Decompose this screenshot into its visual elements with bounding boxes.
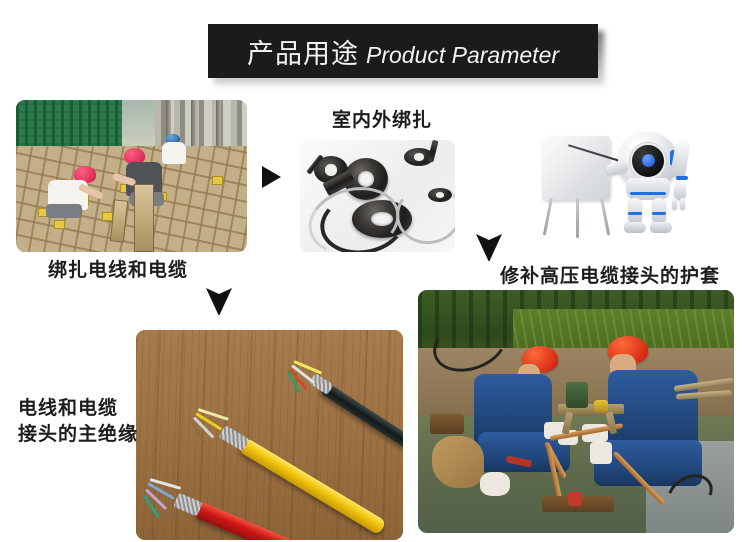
green-tank <box>566 382 588 408</box>
robot-blue-accent <box>630 192 666 195</box>
yellow-marker <box>212 176 223 185</box>
photo-workers-repairing-cable <box>418 290 734 533</box>
robot-left-leg <box>628 198 642 224</box>
caption-main-insulation: 电线和电缆接头的主绝缘 <box>18 396 148 447</box>
wooden-tool-box <box>430 414 464 434</box>
product-usage-infographic: 产品用途Product Parameter <box>0 0 750 542</box>
robot-right-leg <box>652 198 666 224</box>
caption-line-2: 接头的主绝缘 <box>18 424 138 445</box>
robot-left-foot <box>624 222 646 233</box>
banner-title-cn: 产品用途 <box>247 39 359 69</box>
robot-eye-pupil <box>642 154 655 167</box>
board-leg <box>543 198 553 236</box>
photo-tape-content <box>300 140 455 252</box>
board-leg <box>576 198 579 238</box>
arrow-right-icon <box>262 166 281 188</box>
red-tool <box>568 492 582 506</box>
banner-plate: 产品用途Product Parameter <box>208 24 598 78</box>
photo-robot-content <box>540 128 715 244</box>
robot-forearm <box>674 182 686 200</box>
caption-repair-hv-cable-sheath: 修补高压电缆接头的护套 <box>500 264 720 290</box>
arrow-down-icon <box>476 234 502 261</box>
photo-field-content <box>418 290 734 533</box>
photo-robot-presenter <box>540 128 715 244</box>
robot-blue-accent <box>652 212 666 215</box>
board-leg <box>600 198 610 236</box>
photo-tying-rebar <box>16 100 247 252</box>
worker-leg <box>46 204 82 218</box>
photo-cables-content <box>136 330 403 540</box>
header-banner: 产品用途Product Parameter <box>208 24 598 78</box>
canvas-sack <box>432 436 484 488</box>
yellow-tool <box>594 400 608 412</box>
robot-right-foot <box>650 222 672 233</box>
photo-cables-on-wood <box>136 330 403 540</box>
arrow-down-icon <box>206 288 232 315</box>
caption-line-1: 电线和电缆 <box>18 398 118 419</box>
banner-title-en: Product Parameter <box>366 42 559 68</box>
robot-blue-accent <box>628 212 642 215</box>
worker-torso <box>162 142 186 164</box>
white-bag <box>480 472 510 496</box>
caption-tying-rebar: 绑扎电线和电缆 <box>48 258 188 284</box>
robot-finger <box>680 198 685 210</box>
caption-indoor-outdoor-binding: 室内外绑扎 <box>332 108 432 134</box>
yellow-marker <box>54 220 65 229</box>
robot-blue-accent <box>676 176 688 180</box>
robot-finger <box>672 198 677 210</box>
banner-title-group: 产品用途Product Parameter <box>247 32 559 71</box>
photo-rebar-content <box>16 100 247 252</box>
work-glove <box>590 442 612 464</box>
robot-torso <box>626 178 670 200</box>
tape-roll <box>428 188 452 202</box>
robot-eye-outer <box>629 142 667 180</box>
photo-tape-rolls <box>300 140 455 252</box>
wooden-plank <box>134 184 154 252</box>
